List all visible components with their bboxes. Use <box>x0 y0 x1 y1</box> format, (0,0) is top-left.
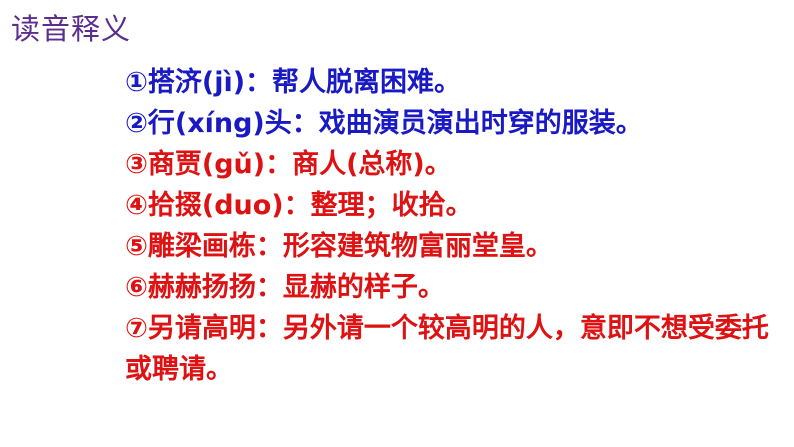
list-item: ④拾掇(duo)：整理；收拾。 <box>125 185 785 226</box>
list-item: ③商贾(gǔ)：商人(总称)。 <box>125 144 785 185</box>
list-item: ⑦另请高明：另外请一个较高明的人，意即不想受委托或聘请。 <box>125 308 785 390</box>
list-item: ⑥赫赫扬扬：显赫的样子。 <box>125 267 785 308</box>
list-item: ①搭济(jì)：帮人脱离困难。 <box>125 62 785 103</box>
slide-canvas: 读音释义 ①搭济(jì)：帮人脱离困难。 ②行(xíng)头：戏曲演员演出时穿的… <box>0 0 794 447</box>
list-item: ②行(xíng)头：戏曲演员演出时穿的服装。 <box>125 103 785 144</box>
list-item: ⑤雕梁画栋：形容建筑物富丽堂皇。 <box>125 226 785 267</box>
page-title: 读音释义 <box>11 11 131 47</box>
glossary-list: ①搭济(jì)：帮人脱离困难。 ②行(xíng)头：戏曲演员演出时穿的服装。 ③… <box>125 62 785 390</box>
